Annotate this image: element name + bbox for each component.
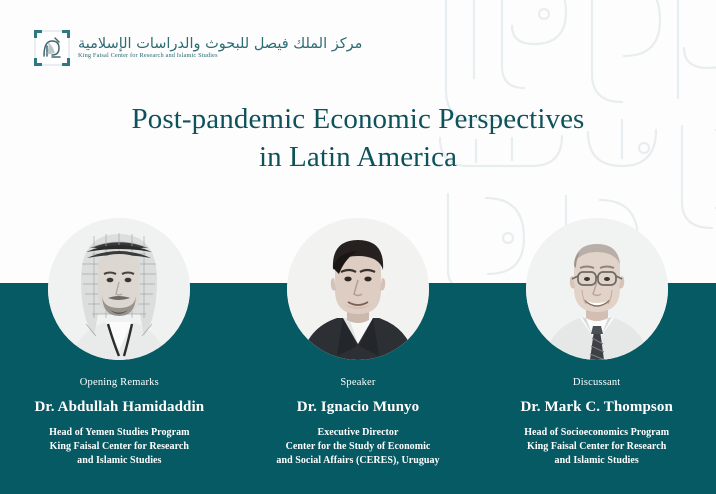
speaker-name: Dr. Ignacio Munyo xyxy=(245,398,472,418)
speaker-affiliation: Head of Socioeconomics Program King Fais… xyxy=(483,426,710,469)
event-title: Post-pandemic Economic Perspectives in L… xyxy=(0,100,716,177)
speaker-affiliation: Head of Yemen Studies Program King Faisa… xyxy=(6,426,233,469)
affiliation-line: Executive Director xyxy=(245,426,472,440)
speaker-card-discussant: Discussant Dr. Mark C. Thompson Head of … xyxy=(477,218,716,494)
speaker-role: Discussant xyxy=(483,376,710,389)
affiliation-line: Center for the Study of Economic xyxy=(245,440,472,454)
speaker-role: Opening Remarks xyxy=(6,376,233,389)
affiliation-line: and Islamic Studies xyxy=(483,454,710,468)
speaker-name: Dr. Abdullah Hamidaddin xyxy=(6,398,233,418)
logo-arabic-name: مركز الملك فيصل للبحوث والدراسات الإسلام… xyxy=(78,37,362,52)
affiliation-line: King Faisal Center for Research xyxy=(483,440,710,454)
speaker-role: Speaker xyxy=(245,376,472,389)
kfcris-emblem-icon xyxy=(33,29,71,67)
speaker-name: Dr. Mark C. Thompson xyxy=(483,398,710,418)
title-line-2: in Latin America xyxy=(0,138,716,176)
speaker-affiliation: Executive Director Center for the Study … xyxy=(245,426,472,469)
affiliation-line: and Social Affairs (CERES), Uruguay xyxy=(245,454,472,468)
affiliation-line: Head of Yemen Studies Program xyxy=(6,426,233,440)
title-line-1: Post-pandemic Economic Perspectives xyxy=(0,100,716,138)
speakers-row: Opening Remarks Dr. Abdullah Hamidaddin … xyxy=(0,218,716,494)
portrait-mark-c-thompson xyxy=(526,218,668,360)
event-poster: مركز الملك فيصل للبحوث والدراسات الإسلام… xyxy=(0,0,716,494)
organization-logo: مركز الملك فيصل للبحوث والدراسات الإسلام… xyxy=(33,29,362,67)
affiliation-line: Head of Socioeconomics Program xyxy=(483,426,710,440)
speaker-card-opening-remarks: Opening Remarks Dr. Abdullah Hamidaddin … xyxy=(0,218,239,494)
affiliation-line: and Islamic Studies xyxy=(6,454,233,468)
speaker-card-speaker: Speaker Dr. Ignacio Munyo Executive Dire… xyxy=(239,218,478,494)
affiliation-line: King Faisal Center for Research xyxy=(6,440,233,454)
logo-english-name: King Faisal Center for Research and Isla… xyxy=(78,53,362,60)
portrait-ignacio-munyo xyxy=(287,218,429,360)
portrait-abdullah-hamidaddin xyxy=(48,218,190,360)
